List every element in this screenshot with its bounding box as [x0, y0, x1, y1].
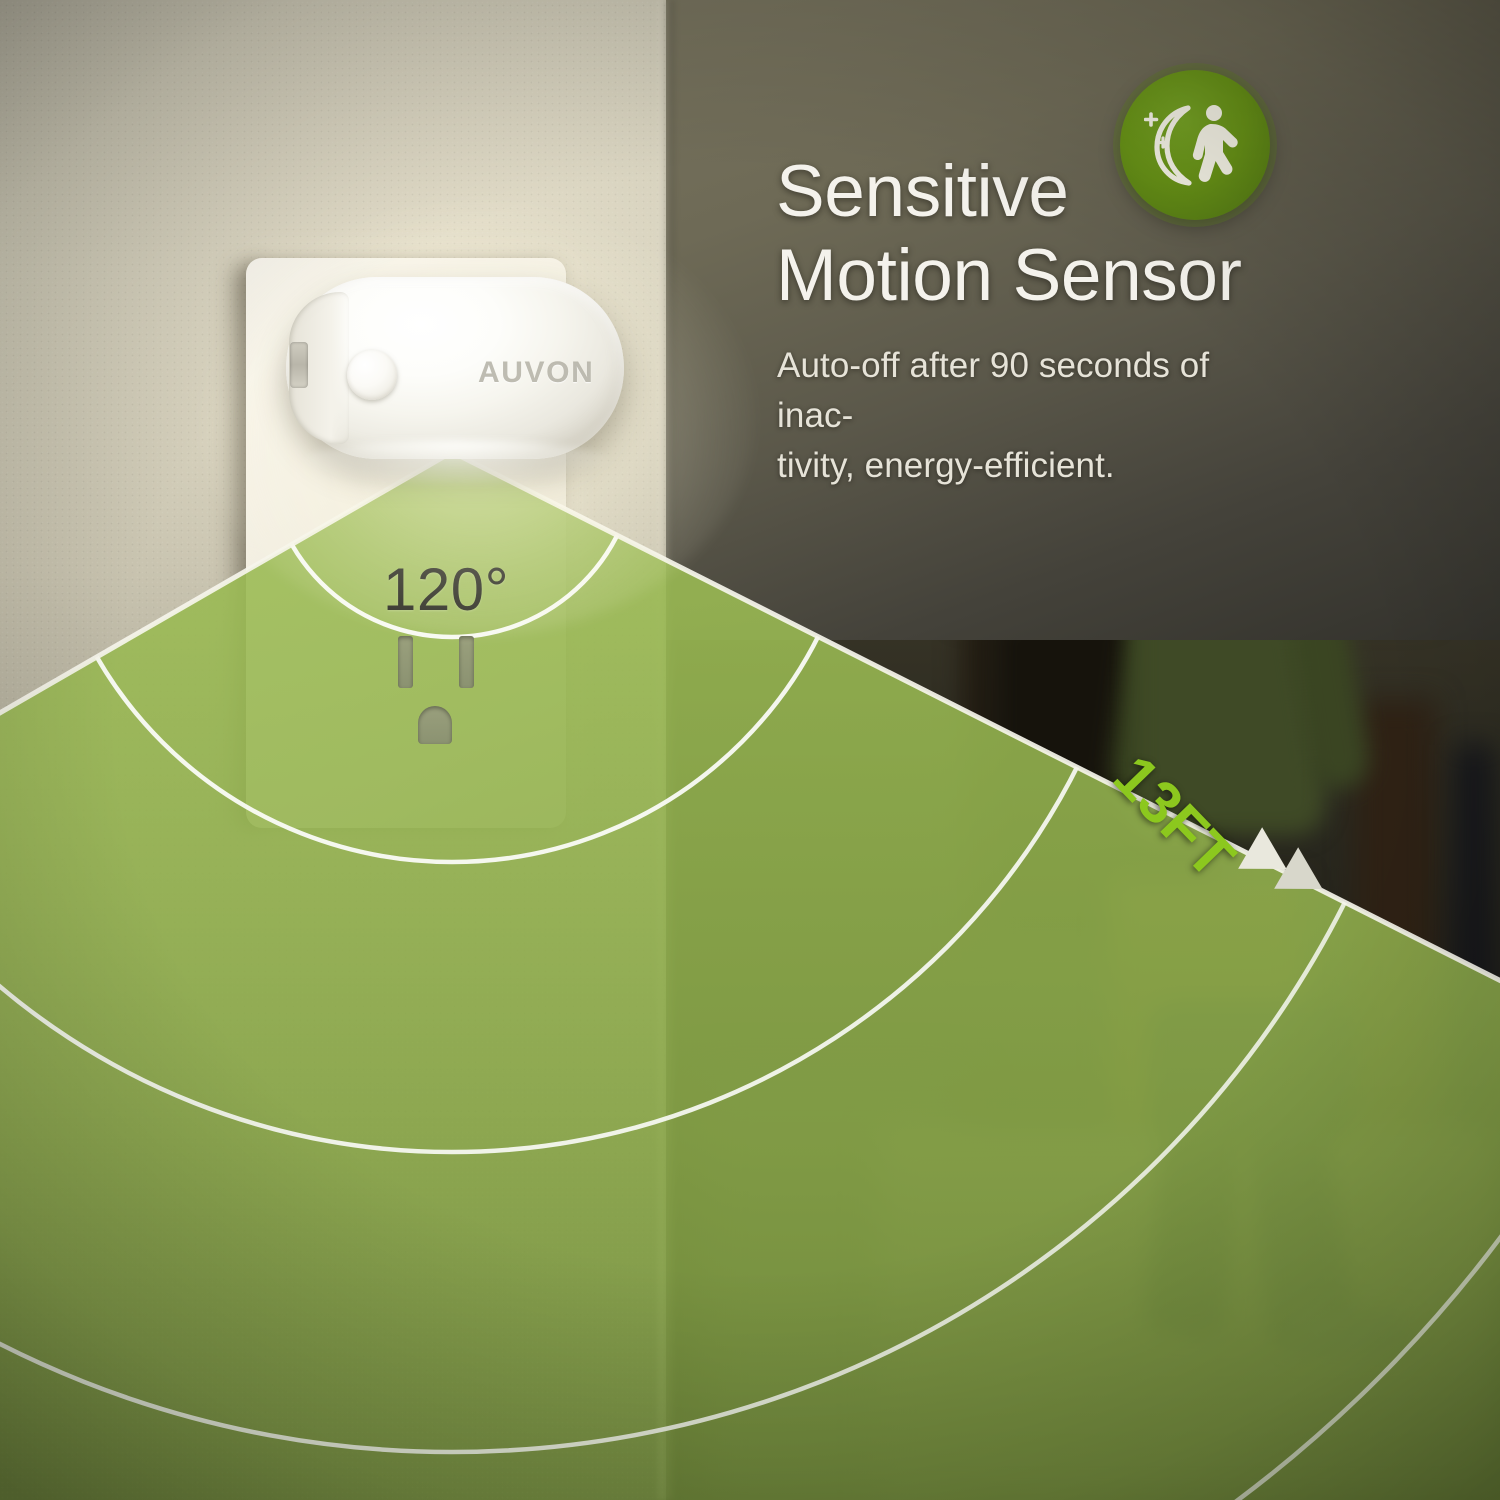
product-feature-image: 120° AUVON 13FT Sensitive Motion Sensor … [0, 0, 1500, 1500]
outlet-slot-right [459, 636, 474, 688]
pir-sensor-dome-icon [347, 350, 397, 400]
badge-icon-group [1144, 98, 1248, 194]
cone-fill [0, 452, 1500, 1500]
feature-description: Auto-off after 90 seconds of inac- tivit… [777, 341, 1237, 491]
sparkle-icon-1 [1146, 114, 1157, 125]
headline-line-2: Motion Sensor [776, 234, 1336, 318]
outlet-ground-slot [418, 706, 452, 744]
subtitle-line-2: tivity, energy-efficient. [777, 441, 1237, 491]
walking-person-icon [1193, 105, 1238, 182]
device-led-emission [300, 440, 612, 484]
outlet-slot-left [398, 636, 413, 688]
subtitle-line-1: Auto-off after 90 seconds of inac- [777, 341, 1237, 441]
brand-logo-text: AUVON [478, 356, 594, 390]
device-side-notch [290, 342, 308, 388]
night-motion-badge [1120, 70, 1270, 220]
